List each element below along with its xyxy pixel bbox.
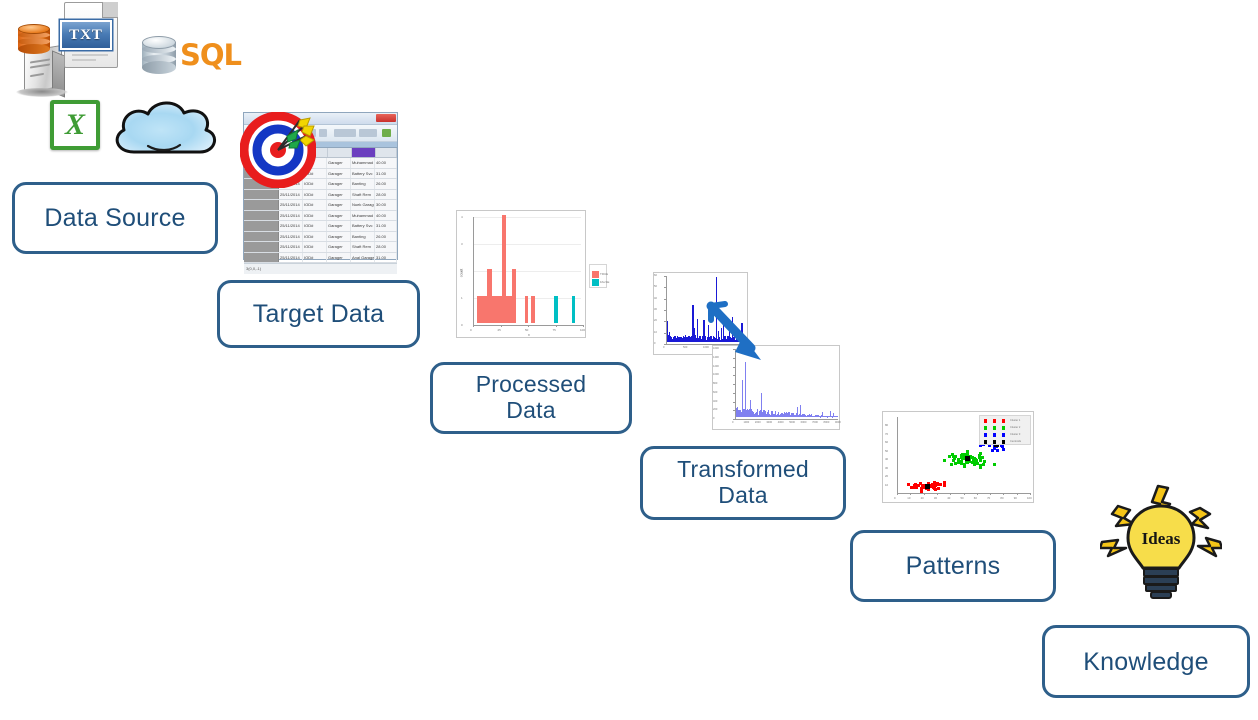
y-tick-label: 20 [885, 474, 888, 478]
stage-label-processed-data: ProcessedData [470, 372, 592, 424]
txt-file-icon: TXT [64, 2, 122, 70]
y-tick-label: 0 [713, 417, 714, 420]
x-axis-label: x [528, 333, 530, 337]
x-tick [583, 325, 584, 327]
x-tick-label: 5000 [789, 421, 795, 424]
scatter-point [957, 458, 960, 461]
table-cell[interactable]: Garager [327, 200, 351, 210]
y-tick-label: 800 [713, 382, 717, 385]
stage-box-data-source[interactable]: Data Source [12, 182, 218, 254]
legend-swatch [993, 440, 996, 444]
scatter-point [972, 459, 975, 462]
stage-box-processed-data[interactable]: ProcessedData [430, 362, 632, 434]
table-cell[interactable]: Banting [351, 232, 375, 242]
scatter-point [952, 459, 955, 462]
y-tick [733, 384, 735, 385]
table-cell[interactable]: Nuek Garager [351, 200, 375, 210]
y-tick [664, 287, 666, 288]
histogram-bar [492, 296, 502, 323]
table-cell[interactable]: 40.00 [375, 158, 397, 168]
stage-label-target-data: Target Data [247, 300, 390, 328]
row-header[interactable] [244, 200, 279, 210]
histogram-bar [572, 296, 575, 323]
table-cell[interactable]: Shaft Rem [351, 190, 375, 200]
y-tick-label: 0 [461, 323, 463, 327]
table-row[interactable]: 25/11/2014IOD#GaragerBattery Svc31.00 [244, 221, 397, 232]
x-tick-label: 2000 [755, 421, 761, 424]
ideas-text: Ideas [1142, 529, 1181, 548]
y-axis [473, 217, 474, 325]
x-tick-label: 25 [498, 328, 501, 332]
y-tick-label: 30 [654, 308, 657, 311]
legend-swatch [993, 419, 996, 423]
row-header[interactable] [244, 242, 279, 252]
y-axis [666, 276, 667, 344]
histogram-bar [512, 269, 516, 323]
histogram-bar [477, 296, 487, 323]
x-tick [910, 493, 911, 495]
y-tick-label: 4 [461, 215, 463, 219]
y-tick [664, 276, 666, 277]
y-tick [733, 393, 735, 394]
y-tick [664, 344, 666, 345]
legend-swatch [1002, 433, 1005, 437]
x-tick [990, 493, 991, 495]
histogram-bar [554, 296, 557, 323]
scatter-point [978, 456, 981, 459]
stage-label-knowledge: Knowledge [1077, 648, 1215, 676]
table-cell[interactable]: Banting [351, 179, 375, 189]
lightbulb-ideas-icon: Ideas [1100, 484, 1222, 606]
x-tick-label: 40 [947, 496, 950, 500]
table-row[interactable]: 25/11/2014IOD#GaragerMuhammad R..40.00 [244, 211, 397, 222]
signal-spike [837, 416, 838, 417]
legend-swatch [1002, 426, 1005, 430]
table-cell[interactable]: 25/11/2014 [279, 200, 303, 210]
y-tick-label: 60 [885, 440, 888, 444]
table-cell[interactable]: Garager [327, 211, 351, 221]
y-tick-label: 70 [885, 432, 888, 436]
scatter-point [914, 483, 917, 486]
scatter-point [907, 483, 910, 486]
scatter-point [920, 487, 923, 490]
y-tick-label: 20 [654, 319, 657, 322]
txt-file-label: TXT [60, 20, 112, 50]
window-statusbar: 3(0,0,-1) [244, 263, 397, 274]
scatter-point [983, 460, 986, 463]
legend-swatch [1002, 419, 1005, 423]
x-tick-label: 20 [921, 496, 924, 500]
scatter-point [937, 487, 940, 490]
table-cell[interactable]: Anal Garager [351, 253, 375, 263]
cluster-centroid [965, 456, 970, 461]
x-tick [977, 493, 978, 495]
stage-label-patterns: Patterns [900, 552, 1007, 580]
y-tick-label: 40 [654, 297, 657, 300]
x-tick-label: 30 [934, 496, 937, 500]
legend-swatch [984, 426, 987, 430]
legend-label: Cluster 2 [1010, 426, 1020, 429]
x-tick [501, 325, 502, 327]
x-tick-label: 75 [553, 328, 556, 332]
table-cell[interactable]: 26.00 [375, 179, 397, 189]
x-tick-label: 1000 [743, 421, 749, 424]
y-tick-label: 0 [654, 342, 655, 345]
gridline [473, 244, 581, 245]
table-cell[interactable]: 28.00 [375, 190, 397, 200]
scatter-point [1001, 445, 1004, 448]
table-cell[interactable]: 25/11/2014 [279, 211, 303, 221]
stage-label-data-source: Data Source [38, 204, 191, 232]
scatter-point [950, 463, 953, 466]
y-tick-label: 200 [713, 408, 717, 411]
table-cell[interactable]: IOD# [303, 221, 327, 231]
y-tick-label: 600 [713, 391, 717, 394]
legend-swatch [592, 271, 599, 278]
target-dartboard-icon [240, 112, 316, 188]
table-cell[interactable]: Garager [327, 179, 351, 189]
scatter-point [915, 486, 918, 489]
x-tick [964, 493, 965, 495]
table-cell[interactable]: 25/11/2014 [279, 190, 303, 200]
table-row[interactable]: 25/11/2014IOD#GaragerShaft Rem28.00 [244, 190, 397, 201]
stage-box-target-data[interactable]: Target Data [217, 280, 420, 348]
row-header[interactable] [244, 221, 279, 231]
scatter-point [943, 484, 946, 487]
y-tick-label: 30 [885, 466, 888, 470]
row-header[interactable] [244, 253, 279, 263]
table-cell[interactable]: 40.00 [375, 211, 397, 221]
cluster-centroid [925, 484, 930, 489]
excel-x-glyph: X [54, 104, 96, 146]
legend-label: Cluster 1 [1010, 419, 1020, 422]
patterns-scatter-chart: 01020304050607080901001020304050607080Cl… [882, 411, 1034, 503]
x-tick-label: 0 [732, 421, 733, 424]
legend-label: Cluster 3 [1010, 433, 1020, 436]
y-tick [733, 402, 735, 403]
row-header[interactable] [244, 211, 279, 221]
table-cell[interactable]: IOD# [303, 190, 327, 200]
table-cell[interactable]: Garager [327, 169, 351, 179]
legend-swatch [592, 279, 599, 286]
x-tick-label: 100 [580, 328, 585, 332]
legend-label: TRUE [600, 272, 608, 276]
x-axis [735, 419, 838, 420]
x-tick-label: 100 [1027, 496, 1032, 500]
y-tick-label: 1000 [713, 373, 719, 376]
scatter-point [981, 456, 984, 459]
y-tick-label: 10 [885, 483, 888, 487]
y-tick [664, 321, 666, 322]
scatter-point [933, 487, 936, 490]
database-cylinder-icon [18, 24, 50, 54]
table-cell[interactable]: Garager [327, 253, 351, 263]
y-tick-label: 3 [461, 242, 463, 246]
scatter-point [979, 464, 982, 467]
x-tick-label: 0 [894, 496, 896, 500]
x-tick-label: 4000 [778, 421, 784, 424]
table-row[interactable]: 25/11/2014IOD#GaragerAnal Garager31.00 [244, 253, 397, 264]
y-tick [664, 333, 666, 334]
legend-swatch [1002, 440, 1005, 444]
table-row[interactable]: 25/11/2014IOD#GaragerBanting26.00 [244, 232, 397, 243]
stage-label-transformed-data: TransformedData [671, 457, 815, 509]
x-tick-label: 60 [974, 496, 977, 500]
sql-database-icon: SQL [138, 32, 236, 80]
table-cell[interactable]: Muhammad R.. [351, 158, 375, 168]
stage-box-patterns[interactable]: Patterns [850, 530, 1056, 602]
scatter-point [1002, 448, 1005, 451]
y-tick [733, 375, 735, 376]
x-tick [1017, 493, 1018, 495]
y-tick-label: 50 [654, 285, 657, 288]
table-cell[interactable]: Garager [327, 158, 351, 168]
scatter-point [996, 449, 999, 452]
excel-file-icon: X [50, 100, 106, 156]
table-cell[interactable]: 31.00 [375, 253, 397, 263]
row-header[interactable] [244, 232, 279, 242]
y-tick-label: 60 [654, 274, 657, 277]
table-cell[interactable]: IOD# [303, 200, 327, 210]
stage-box-knowledge[interactable]: Knowledge [1042, 625, 1250, 698]
x-tick-label: 8000 [824, 421, 830, 424]
table-cell[interactable]: IOD# [303, 211, 327, 221]
table-cell[interactable]: Shaft Rem [351, 242, 375, 252]
x-tick [528, 325, 529, 327]
y-tick-label: 50 [885, 449, 888, 453]
y-tick-label: 40 [885, 457, 888, 461]
table-cell[interactable]: Battery Svc [351, 169, 375, 179]
y-tick-label: 10 [654, 331, 657, 334]
legend-swatch [984, 440, 987, 444]
histogram-bar [531, 296, 534, 323]
x-tick-label: 50 [525, 328, 528, 332]
table-cell[interactable]: Battery Svc [351, 221, 375, 231]
scatter-point [931, 483, 934, 486]
x-tick [937, 493, 938, 495]
y-tick-label: 1 [461, 296, 463, 300]
y-tick [664, 299, 666, 300]
scatter-point [961, 453, 964, 456]
table-cell[interactable]: Garager [327, 242, 351, 252]
legend-label: Centroids [1010, 440, 1021, 443]
x-tick [897, 493, 898, 495]
table-cell[interactable]: 25/11/2014 [279, 221, 303, 231]
histogram-bar [525, 296, 528, 323]
x-tick-label: 500 [683, 346, 687, 349]
table-cell[interactable]: Garager [327, 221, 351, 231]
x-tick-label: 80 [1000, 496, 1003, 500]
transform-arrow-icon [705, 300, 785, 370]
x-tick-label: 0 [470, 328, 472, 332]
cloud-storage-icon [108, 96, 224, 164]
x-tick [924, 493, 925, 495]
scatter-point [943, 481, 946, 484]
y-tick [733, 419, 735, 420]
y-tick [733, 410, 735, 411]
scatter-point [948, 455, 951, 458]
scatter-legend: Cluster 1Cluster 2Cluster 3Centroids [979, 415, 1031, 445]
x-tick [473, 325, 474, 327]
scatter-point [943, 459, 946, 462]
legend-swatch [984, 419, 987, 423]
gridline [473, 217, 581, 218]
legend-swatch [993, 426, 996, 430]
diagram-canvas: TXT SQL X [0, 0, 1258, 720]
x-tick [950, 493, 951, 495]
table-cell[interactable]: 25/11/2014 [279, 242, 303, 252]
legend-swatch [984, 433, 987, 437]
y-tick [664, 310, 666, 311]
stage-box-transformed-data[interactable]: TransformedData [640, 446, 846, 520]
table-cell[interactable]: 31.00 [375, 221, 397, 231]
x-tick-label: 6000 [801, 421, 807, 424]
selected-column-header [352, 148, 376, 157]
legend-swatch [993, 433, 996, 437]
table-cell[interactable]: 30.00 [375, 200, 397, 210]
y-axis-label: count [459, 269, 463, 278]
x-tick-label: 9000 [835, 421, 841, 424]
close-icon[interactable] [376, 114, 396, 122]
scatter-point [963, 465, 966, 468]
scatter-point [951, 453, 954, 456]
row-header[interactable] [244, 190, 279, 200]
legend-label: FALSE [600, 280, 609, 284]
table-cell[interactable]: 25/11/2014 [279, 232, 303, 242]
table-cell[interactable]: 31.00 [375, 169, 397, 179]
table-cell[interactable]: Muhammad R.. [351, 211, 375, 221]
x-tick-label: 70 [987, 496, 990, 500]
x-tick [1030, 493, 1031, 495]
scatter-point [937, 483, 940, 486]
table-cell[interactable]: Garager [327, 190, 351, 200]
scatter-point [993, 463, 996, 466]
table-cell[interactable]: IOD# [303, 232, 327, 242]
table-cell[interactable]: 25/11/2014 [279, 253, 303, 263]
x-tick [556, 325, 557, 327]
table-cell[interactable]: IOD# [303, 242, 327, 252]
table-row[interactable]: 25/11/2014IOD#GaragerNuek Garager30.00 [244, 200, 397, 211]
table-row[interactable]: 25/11/2014IOD#GaragerShaft Rem28.00 [244, 242, 397, 253]
x-tick-label: 90 [1014, 496, 1017, 500]
x-tick-label: 7000 [812, 421, 818, 424]
y-tick-label: 400 [713, 400, 717, 403]
y-axis [897, 417, 898, 493]
sql-label: SQL [180, 38, 241, 72]
table-cell[interactable]: Garager [327, 232, 351, 242]
histogram-legend: TRUEFALSE [589, 264, 607, 288]
scatter-point [966, 450, 969, 453]
table-cell[interactable]: 28.00 [375, 242, 397, 252]
x-tick-label: 3000 [766, 421, 772, 424]
x-tick-label: 10 [907, 496, 910, 500]
table-cell[interactable]: 26.00 [375, 232, 397, 242]
table-cell[interactable]: IOD# [303, 253, 327, 263]
x-tick-label: 0 [663, 346, 664, 349]
x-tick-label: 50 [961, 496, 964, 500]
x-tick [1003, 493, 1004, 495]
processed-histogram-chart: 012340255075100xcount [456, 210, 586, 338]
y-tick-label: 80 [885, 423, 888, 427]
